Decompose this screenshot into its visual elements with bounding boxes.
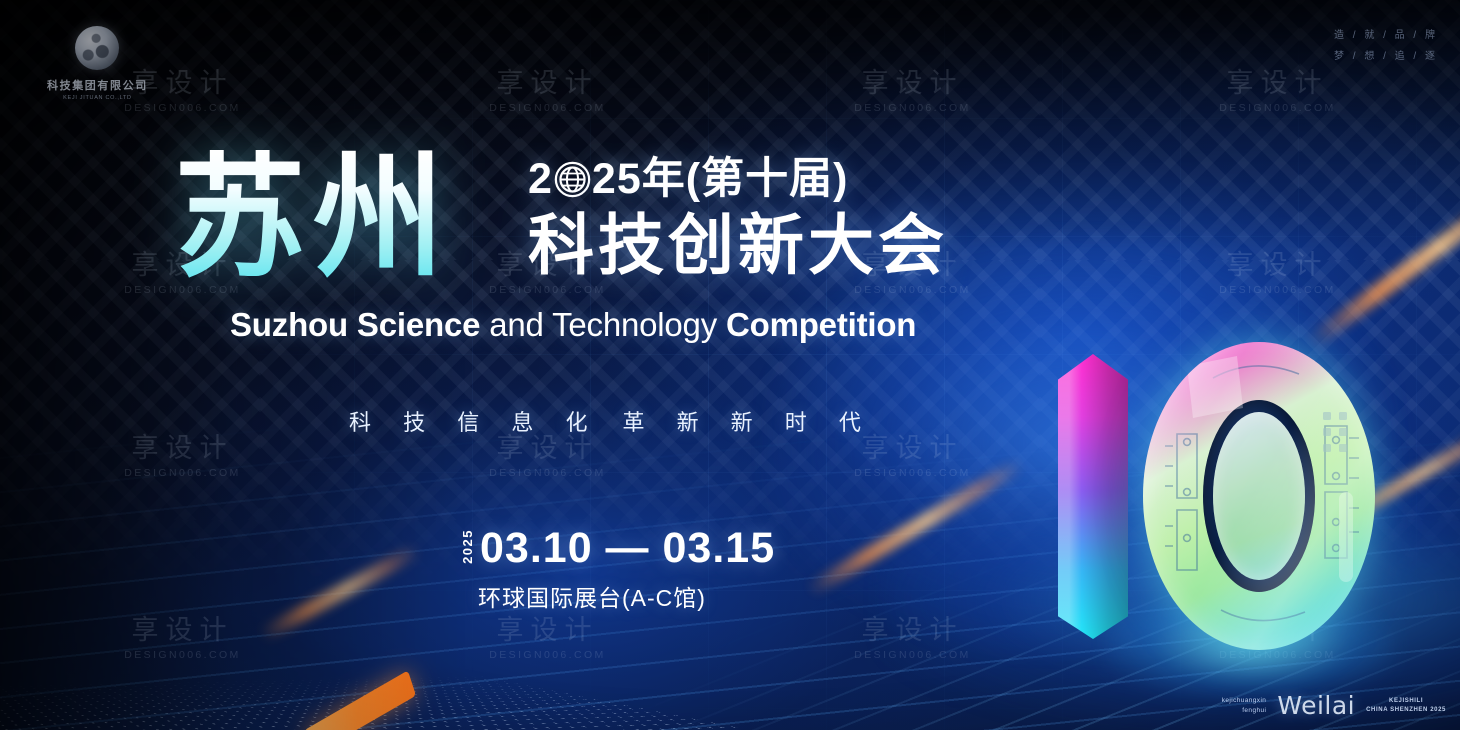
english-subtitle: Suzhou Science and Technology Competitio…: [230, 306, 916, 344]
footer-pinyin-line-2: fenghui: [1222, 706, 1267, 715]
globe-icon: [554, 161, 591, 198]
numeral-circuit-detail: [1143, 342, 1375, 650]
venue-label: 环球国际展台(A-C馆): [478, 579, 775, 613]
year-line: 2 25年(第十届): [528, 158, 948, 201]
title-block: 2 25年(第十届) 科技创新大会: [528, 158, 948, 278]
page-title: 科技创新大会: [528, 212, 948, 278]
main-content: 苏州 2 25年(第十届) 科技创新大会 Su: [0, 0, 1010, 730]
subtitle-part-3: Competition: [726, 306, 916, 343]
footer-code: KEJISHILI CHINA SHENZHEN 2025: [1366, 697, 1446, 715]
subtitle-part-2: and Technology: [480, 306, 726, 343]
tagline: 科 技 信 息 化革 新 新 时 代: [349, 405, 874, 437]
tagline-left: 科 技 信 息 化: [349, 410, 600, 435]
tagline-right: 革 新 新 时 代: [622, 410, 873, 435]
poster-canvas: 享设计DESIGN006.COM 享设计DESIGN006.COM 享设计DES…: [0, 0, 1460, 730]
date-range: 03.10 — 03.15: [480, 527, 775, 570]
date-row: 2025 03.10 — 03.15: [460, 527, 775, 570]
subtitle-part-1: Suzhou Science: [230, 306, 480, 343]
footer-pinyin-line-1: kejichuangxin: [1222, 696, 1267, 705]
watermark-cn: 享设计: [1227, 69, 1329, 99]
slogan-line-2: 梦 / 想 / 追 / 逐: [1334, 47, 1438, 68]
footer-code-line-2: CHINA SHENZHEN 2025: [1366, 706, 1446, 715]
city-logotype: 苏州: [174, 150, 451, 285]
year-vertical-label: 2025: [460, 529, 475, 564]
year-prefix: 2: [528, 158, 553, 201]
footer-pinyin: kejichuangxin fenghui: [1222, 696, 1267, 715]
anniversary-numeral-graphic: [1045, 340, 1375, 660]
year-suffix: 25年(第十届): [592, 158, 848, 201]
event-info-block: 2025 03.10 — 03.15 环球国际展台(A-C馆): [460, 527, 775, 613]
footer-brand-name: Weilai: [1277, 691, 1355, 720]
footer-code-line-1: KEJISHILI: [1366, 697, 1446, 706]
footer-brand-block: kejichuangxin fenghui Weilai KEJISHILI C…: [1222, 691, 1446, 720]
numeral-digit-one-shading: [1058, 354, 1128, 639]
slogan-line-1: 造 / 就 / 品 / 牌: [1334, 26, 1438, 47]
top-right-slogan: 造 / 就 / 品 / 牌 梦 / 想 / 追 / 逐: [1334, 26, 1438, 67]
watermark-en: DESIGN006.COM: [1219, 102, 1335, 114]
